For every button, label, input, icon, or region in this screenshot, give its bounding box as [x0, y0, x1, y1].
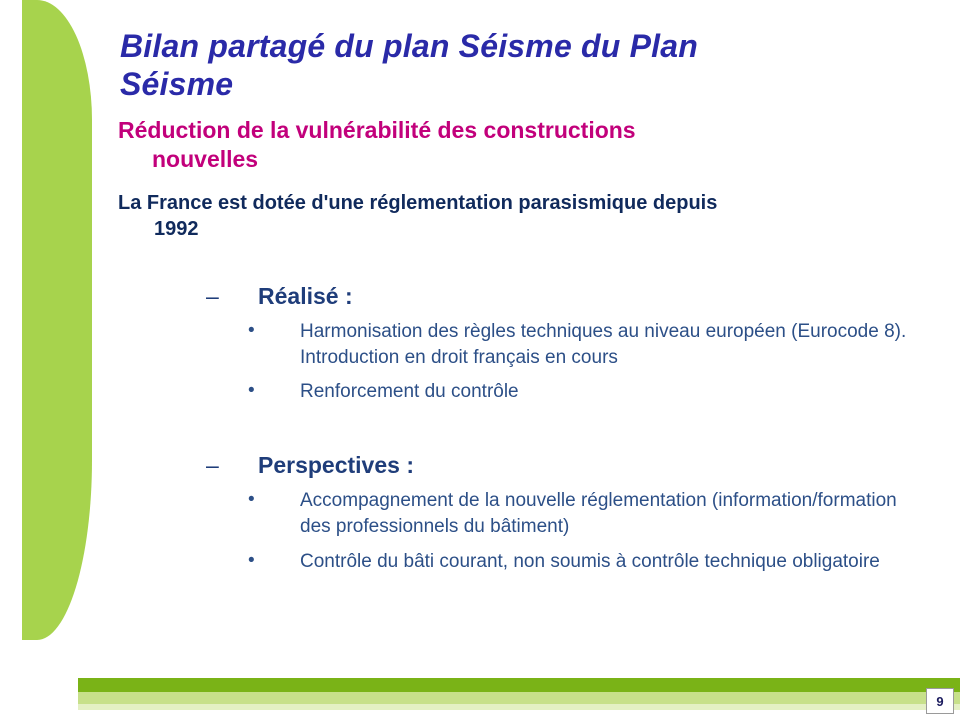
- list-item-text: Contrôle du bâti courant, non soumis à c…: [300, 551, 880, 572]
- bullet-icon: •: [248, 378, 255, 404]
- footer-bar-green: [78, 678, 960, 692]
- dash-marker: –: [206, 282, 219, 311]
- slide-body: La France est dotée d'une réglementation…: [118, 190, 918, 579]
- bullet-icon: •: [248, 318, 255, 344]
- section-heading-label: Perspectives :: [258, 452, 414, 478]
- section-heading-label: Réalisé :: [258, 283, 353, 309]
- page-subtitle: Réduction de la vulnérabilité des constr…: [118, 116, 878, 175]
- list-item: • Contrôle du bâti courant, non soumis à…: [118, 549, 918, 575]
- list-item: • Harmonisation des règles techniques au…: [118, 319, 918, 371]
- list-item-text: Renforcement du contrôle: [300, 381, 519, 402]
- slide: Bilan partagé du plan Séisme du Plan Séi…: [0, 0, 960, 720]
- left-decorative-shape: [0, 0, 92, 640]
- intro-line-2: 1992: [118, 216, 918, 242]
- footer-bar-pale: [78, 703, 960, 710]
- list-item-text: Accompagnement de la nouvelle réglementa…: [300, 490, 897, 537]
- left-decorative-shape-inner: [0, 0, 22, 640]
- bullet-icon: •: [248, 487, 255, 513]
- subtitle-line-2: nouvelles: [118, 145, 878, 174]
- intro-line-1: La France est dotée d'une réglementation…: [118, 192, 717, 214]
- list-item: • Renforcement du contrôle: [118, 379, 918, 405]
- footer-bar-light: [78, 692, 960, 704]
- section-heading-perspectives: – Perspectives :: [118, 451, 918, 480]
- page-title: Bilan partagé du plan Séisme du Plan Séi…: [120, 28, 820, 104]
- list-item: • Accompagnement de la nouvelle réglemen…: [118, 488, 918, 540]
- dash-marker: –: [206, 451, 219, 480]
- list-item-text: Harmonisation des règles techniques au n…: [300, 321, 906, 368]
- intro-paragraph: La France est dotée d'une réglementation…: [118, 190, 918, 242]
- subtitle-line-1: Réduction de la vulnérabilité des constr…: [118, 117, 636, 143]
- section-heading-realise: – Réalisé :: [118, 282, 918, 311]
- page-number: 9: [926, 688, 954, 714]
- spacer: [118, 409, 918, 435]
- spacer: [118, 256, 918, 266]
- bullet-icon: •: [248, 548, 255, 574]
